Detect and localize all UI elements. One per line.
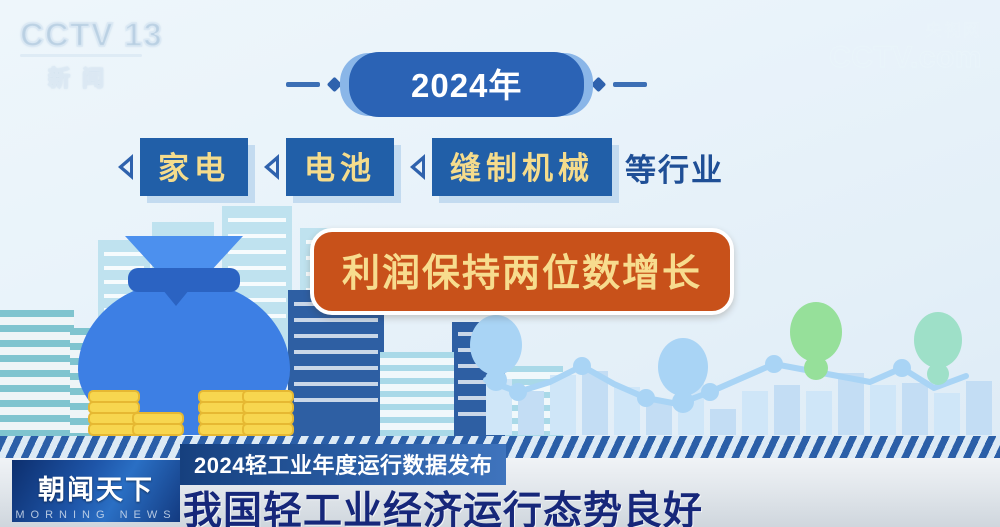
lower-third-ticker: 朝闻天下 MORNING NEWS 2024轻工业年度运行数据发布 我国轻工业经… <box>0 458 1000 527</box>
money-bag-illustration <box>70 228 300 436</box>
coin-stack-right-2 <box>242 392 294 436</box>
year-banner: 2024年 <box>286 52 647 117</box>
watermark-main: CCTV.com <box>829 41 982 75</box>
profit-growth-banner: 利润保持两位数增长 <box>310 228 734 315</box>
ticker-topic: 2024轻工业年度运行数据发布 <box>180 444 506 485</box>
left-triangle-marker-icon <box>118 154 133 180</box>
channel-logo-underline <box>20 54 142 57</box>
money-bag-top <box>125 236 243 272</box>
industry-tag-label: 缝制机械 <box>432 138 612 196</box>
ticker-headline: 我国轻工业经济运行态势良好 <box>183 480 703 527</box>
channel-logo-line1: CCTV 13 <box>20 18 170 52</box>
program-name-en: MORNING NEWS <box>12 509 180 521</box>
coin-stack-mid <box>132 414 184 436</box>
watermark-sub: 央视网 <box>829 16 982 41</box>
channel-logo: CCTV 13 新闻 <box>20 18 170 88</box>
chart-balloon-marker <box>914 312 962 385</box>
industry-tag-label: 电池 <box>286 138 394 196</box>
money-bag-fold <box>158 284 194 306</box>
left-triangle-marker-icon <box>264 154 279 180</box>
channel-logo-line2: 新闻 <box>20 61 170 93</box>
cctv-watermark: 央视网 CCTV.com <box>829 20 982 75</box>
chart-balloon-marker <box>470 315 522 391</box>
broadcast-screen: CCTV 13 新闻 央视网 CCTV.com 2024年 家电 电池 缝制机械… <box>0 0 1000 527</box>
industry-tag-row: 家电 电池 缝制机械 等行业 <box>118 138 724 196</box>
industry-tag-1: 电池 <box>264 138 394 196</box>
year-pill-label: 2024年 <box>349 52 584 117</box>
deco-dash-left <box>286 82 320 87</box>
program-name-cn: 朝闻天下 <box>12 468 180 507</box>
deco-dash-right <box>613 82 647 87</box>
program-logo: 朝闻天下 MORNING NEWS <box>12 460 180 522</box>
left-triangle-marker-icon <box>410 154 425 180</box>
deco-diamond-left <box>327 77 343 93</box>
industry-tag-label: 家电 <box>140 138 248 196</box>
industry-tag-2: 缝制机械 等行业 <box>410 138 724 196</box>
deco-diamond-right <box>591 77 607 93</box>
industry-tag-suffix: 等行业 <box>625 145 724 190</box>
industry-tag-0: 家电 <box>118 138 248 196</box>
